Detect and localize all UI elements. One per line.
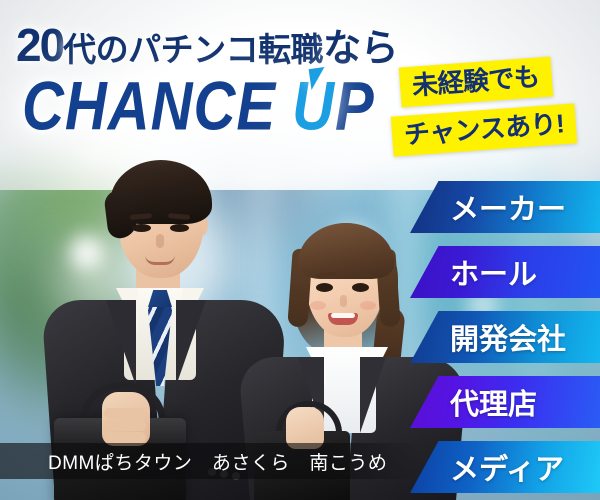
man-eye-left (132, 224, 151, 232)
category-bar-agency[interactable]: 代理店 (410, 376, 600, 428)
man-finger (104, 420, 146, 431)
woman-eye-left (316, 283, 333, 292)
man-nose (156, 234, 164, 248)
category-bar-hall[interactable]: ホール (410, 246, 600, 298)
man-hair (110, 160, 212, 224)
man-lapel-right (176, 300, 206, 386)
category-label: メーカー (450, 186, 566, 228)
woman-cheek-right (360, 301, 376, 310)
woman-nose (340, 295, 347, 307)
headline-body: 代のパチンコ転職 (63, 31, 323, 68)
logo-word-chance: CHANCE (22, 68, 276, 145)
page-title: 20代のパチンコ転職なら (16, 17, 398, 72)
category-label: ホール (450, 251, 537, 293)
man-eye-right (170, 224, 189, 232)
category-label: メディア (450, 446, 564, 488)
category-bar-maker[interactable]: メーカー (410, 181, 600, 233)
credits-text: DMMぱちタウン あさくら 南こうめ (0, 448, 387, 475)
man-finger (104, 408, 146, 419)
logo-letter-p: P (335, 68, 375, 145)
category-label: 開発会社 (450, 316, 566, 358)
woman-eye-right (352, 283, 369, 292)
man-lapel-left (106, 300, 136, 386)
woman-lapel-right (360, 357, 386, 433)
headline-tail: なら (323, 28, 398, 70)
woman-hair-top (298, 223, 394, 279)
headline-number: 20 (16, 19, 63, 71)
advertisement-banner[interactable]: 20代のパチンコ転職なら CHANCEUP 未経験でも チャンスあり! メーカー… (0, 0, 600, 500)
man-finger (104, 432, 146, 443)
category-bar-media[interactable]: メディア (410, 441, 600, 493)
up-arrow-icon (309, 67, 328, 90)
category-bar-development-company[interactable]: 開発会社 (410, 311, 600, 363)
woman-teeth (331, 313, 355, 318)
category-label: 代理店 (450, 381, 537, 423)
woman-cheek-left (310, 301, 326, 310)
credits-band: DMMぱちタウン あさくら 南こうめ (0, 443, 420, 479)
